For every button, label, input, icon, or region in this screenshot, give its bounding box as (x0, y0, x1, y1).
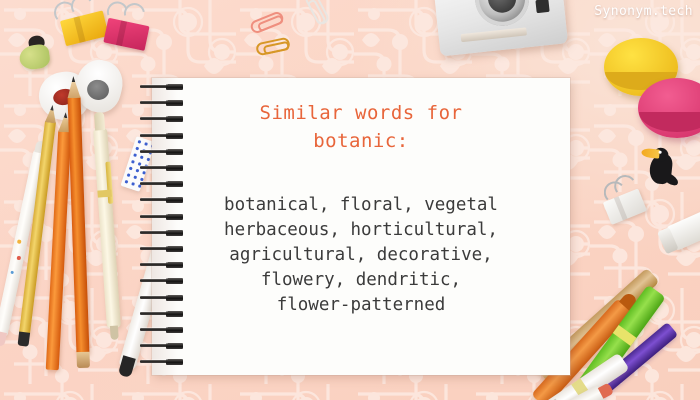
bird-body (18, 43, 51, 71)
page-title-headword: botanic: (152, 130, 570, 152)
pen-pattern-dot (16, 256, 21, 261)
notepad-content: Similar words for botanic: botanical, fl… (152, 78, 570, 375)
pencil-end (17, 332, 30, 347)
synonym-line: botanical, floral, vegetal (152, 193, 570, 218)
pen-pattern-dot (10, 271, 14, 275)
camera-sensor (535, 0, 549, 13)
toucan-figurine-icon (638, 144, 686, 192)
pencil-end (76, 352, 90, 368)
pen-top (94, 112, 105, 131)
synonym-list: botanical, floral, vegetalherbaceous, ho… (152, 193, 570, 318)
toucan-beak (641, 148, 660, 159)
camera-grip (461, 27, 527, 42)
pen-pattern-dot (17, 239, 22, 244)
camera-lens (472, 0, 531, 28)
synonym-line: agricultural, decorative, (152, 243, 570, 268)
bird-figurine-icon (16, 34, 54, 72)
page-title-line1: Similar words for (152, 102, 570, 124)
stone-center (85, 78, 111, 103)
pen-bottom (110, 325, 119, 340)
pen-ring (97, 190, 111, 198)
site-logo[interactable]: Synonym.tech (594, 4, 693, 19)
synonym-line: herbaceous, horticultural, (152, 218, 570, 243)
synonym-line: flower-patterned (152, 293, 570, 318)
synonym-line: flowery, dendritic, (152, 268, 570, 293)
